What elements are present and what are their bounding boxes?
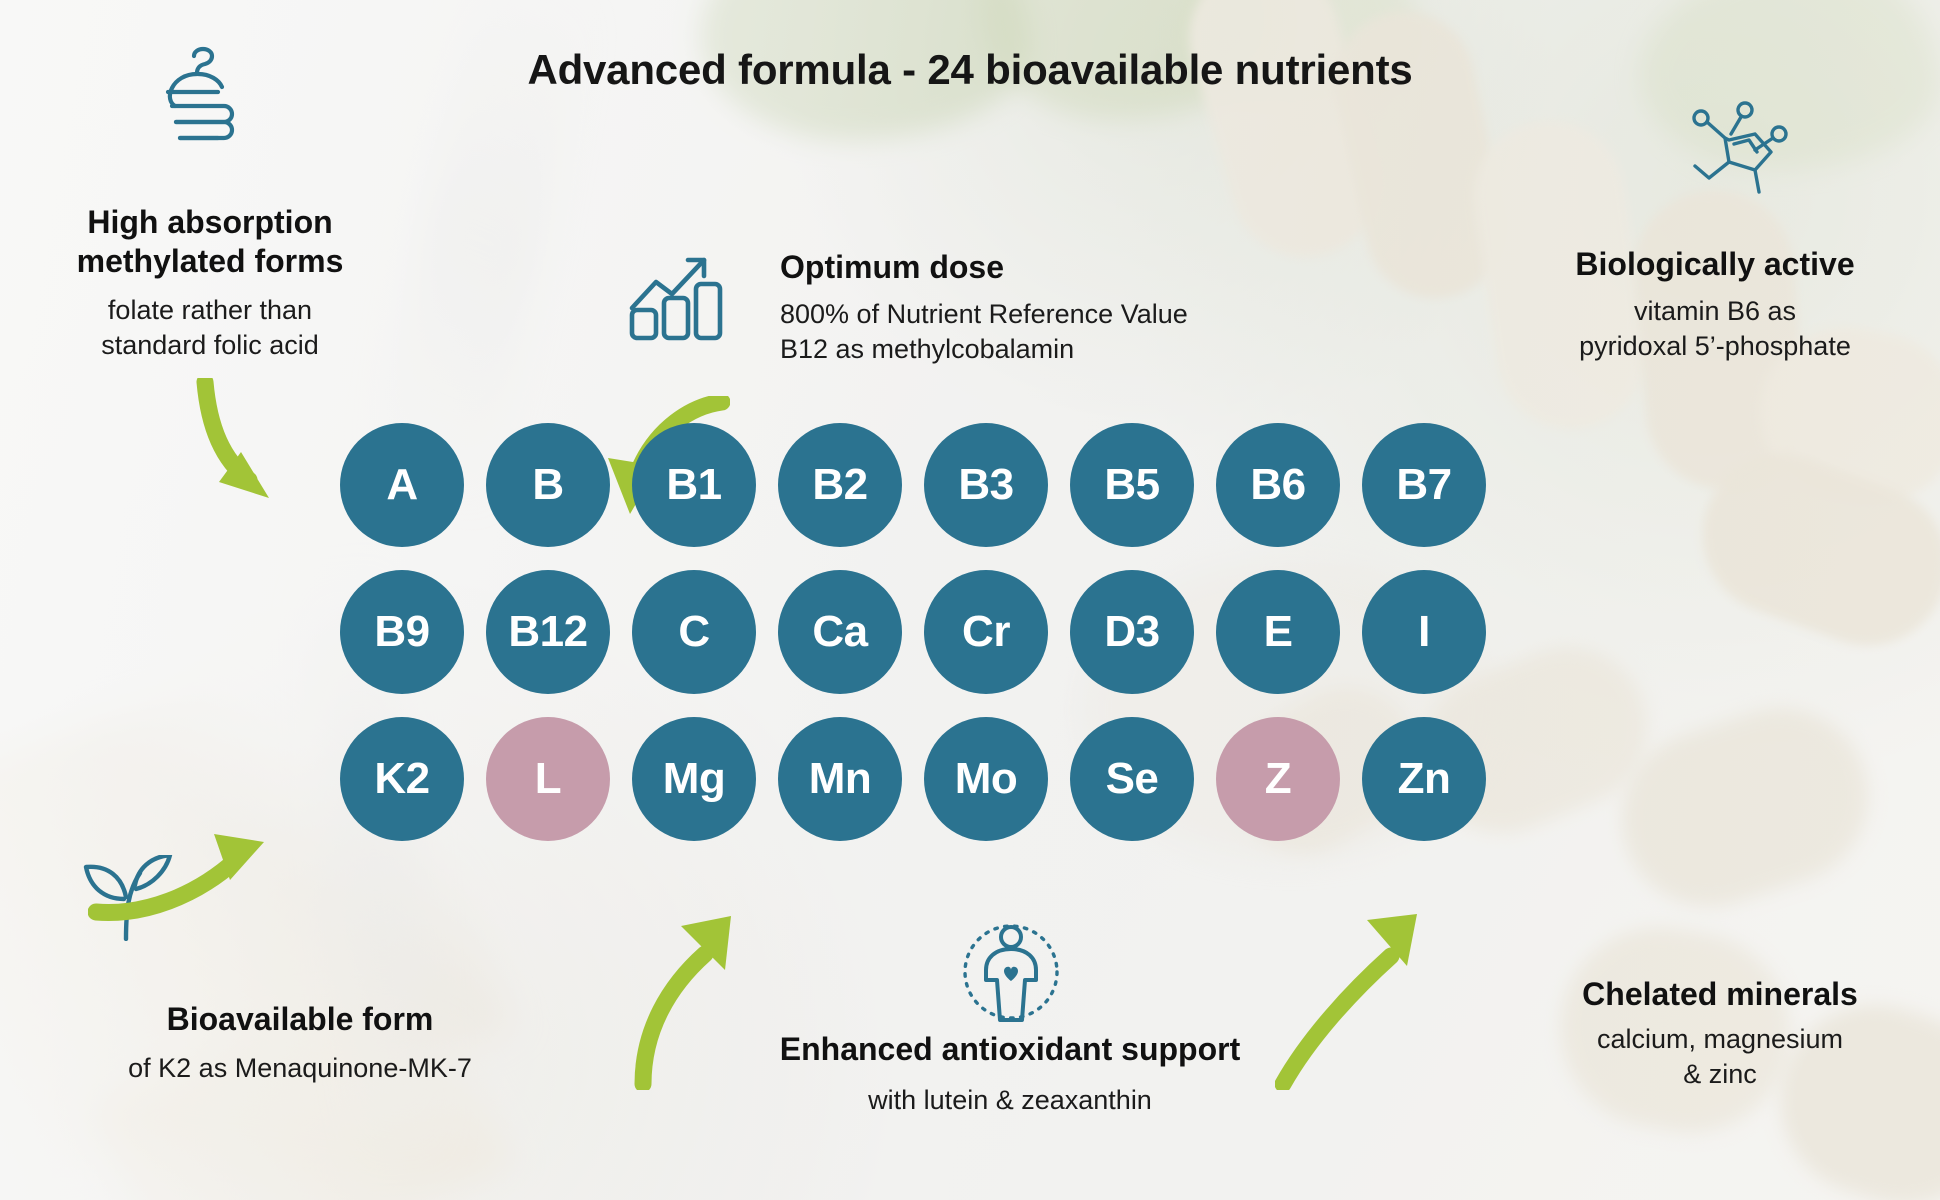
nutrient-circle-b3[interactable]: B3	[924, 423, 1048, 547]
gut-icon	[150, 46, 246, 156]
nutrient-row: B9B12CCaCrD3EI	[340, 570, 1486, 694]
block-heading: Bioavailable form	[30, 1000, 570, 1039]
block-heading: Optimum dose	[780, 248, 1380, 287]
block-heading-line2: methylated forms	[10, 242, 410, 281]
block-sub-line2: standard folic acid	[10, 328, 410, 363]
nutrient-circle-b5[interactable]: B5	[1070, 423, 1194, 547]
capsule-shape	[1172, 0, 1399, 275]
block-chelated-minerals: Chelated minerals calcium, magnesium & z…	[1510, 975, 1930, 1092]
arrow-to-b9-icon	[195, 378, 305, 518]
block-sub-line2: pyridoxal 5’-phosphate	[1500, 329, 1930, 364]
sprout-leaf-icon	[78, 855, 188, 941]
molecule-icon	[1685, 100, 1789, 204]
nutrient-circle-b2[interactable]: B2	[778, 423, 902, 547]
nutrient-circle-b1[interactable]: B1	[632, 423, 756, 547]
nutrient-circle-i[interactable]: I	[1362, 570, 1486, 694]
infographic-canvas: Advanced formula - 24 bioavailable nutri…	[0, 0, 1940, 1200]
block-sub-line2: & zinc	[1510, 1057, 1930, 1092]
block-sub-line1: calcium, magnesium	[1510, 1022, 1930, 1057]
block-optimum-dose: Optimum dose 800% of Nutrient Reference …	[780, 248, 1380, 367]
bar-chart-growth-icon	[628, 250, 728, 342]
nutrient-circle-k2[interactable]: K2	[340, 717, 464, 841]
person-heart-icon	[955, 920, 1067, 1024]
block-antioxidant-support: Enhanced antioxidant support with lutein…	[660, 1030, 1360, 1118]
nutrient-row: ABB1B2B3B5B6B7	[340, 423, 1486, 547]
nutrient-circle-l[interactable]: L	[486, 717, 610, 841]
nutrient-row: K2LMgMnMoSeZZn	[340, 717, 1486, 841]
block-sub-line2: B12 as methylcobalamin	[780, 332, 1380, 367]
nutrient-circle-z[interactable]: Z	[1216, 717, 1340, 841]
block-sub-line1: of K2 as Menaquinone-MK-7	[30, 1051, 570, 1086]
block-sub-line1: with lutein & zeaxanthin	[660, 1083, 1360, 1118]
block-bioavailable-form: Bioavailable form of K2 as Menaquinone-M…	[30, 1000, 570, 1086]
block-heading: Chelated minerals	[1510, 975, 1930, 1014]
block-sub-line1: vitamin B6 as	[1500, 294, 1930, 329]
nutrient-circle-b12[interactable]: B12	[486, 570, 610, 694]
nutrient-circle-mo[interactable]: Mo	[924, 717, 1048, 841]
nutrient-circle-ca[interactable]: Ca	[778, 570, 902, 694]
capsule-shape	[1599, 686, 1891, 930]
page-title: Advanced formula - 24 bioavailable nutri…	[0, 46, 1940, 94]
nutrient-circle-b9[interactable]: B9	[340, 570, 464, 694]
nutrient-circle-se[interactable]: Se	[1070, 717, 1194, 841]
nutrient-circle-b6[interactable]: B6	[1216, 423, 1340, 547]
block-heading: Enhanced antioxidant support	[660, 1030, 1360, 1069]
nutrient-circle-zn[interactable]: Zn	[1362, 717, 1486, 841]
nutrient-circle-c[interactable]: C	[632, 570, 756, 694]
nutrient-circle-mg[interactable]: Mg	[632, 717, 756, 841]
block-high-absorption: High absorption methylated forms folate …	[10, 203, 410, 363]
capsule-shape	[1680, 432, 1940, 668]
nutrient-grid: ABB1B2B3B5B6B7B9B12CCaCrD3EIK2LMgMnMoSeZ…	[340, 423, 1486, 841]
nutrient-circle-b7[interactable]: B7	[1362, 423, 1486, 547]
nutrient-circle-d3[interactable]: D3	[1070, 570, 1194, 694]
nutrient-circle-mn[interactable]: Mn	[778, 717, 902, 841]
nutrient-circle-cr[interactable]: Cr	[924, 570, 1048, 694]
block-sub-line1: folate rather than	[10, 293, 410, 328]
block-sub-line1: 800% of Nutrient Reference Value	[780, 297, 1380, 332]
nutrient-circle-e[interactable]: E	[1216, 570, 1340, 694]
block-heading-line1: High absorption	[10, 203, 410, 242]
block-biologically-active: Biologically active vitamin B6 as pyrido…	[1500, 245, 1930, 364]
nutrient-circle-b[interactable]: B	[486, 423, 610, 547]
nutrient-circle-a[interactable]: A	[340, 423, 464, 547]
block-heading: Biologically active	[1500, 245, 1930, 284]
